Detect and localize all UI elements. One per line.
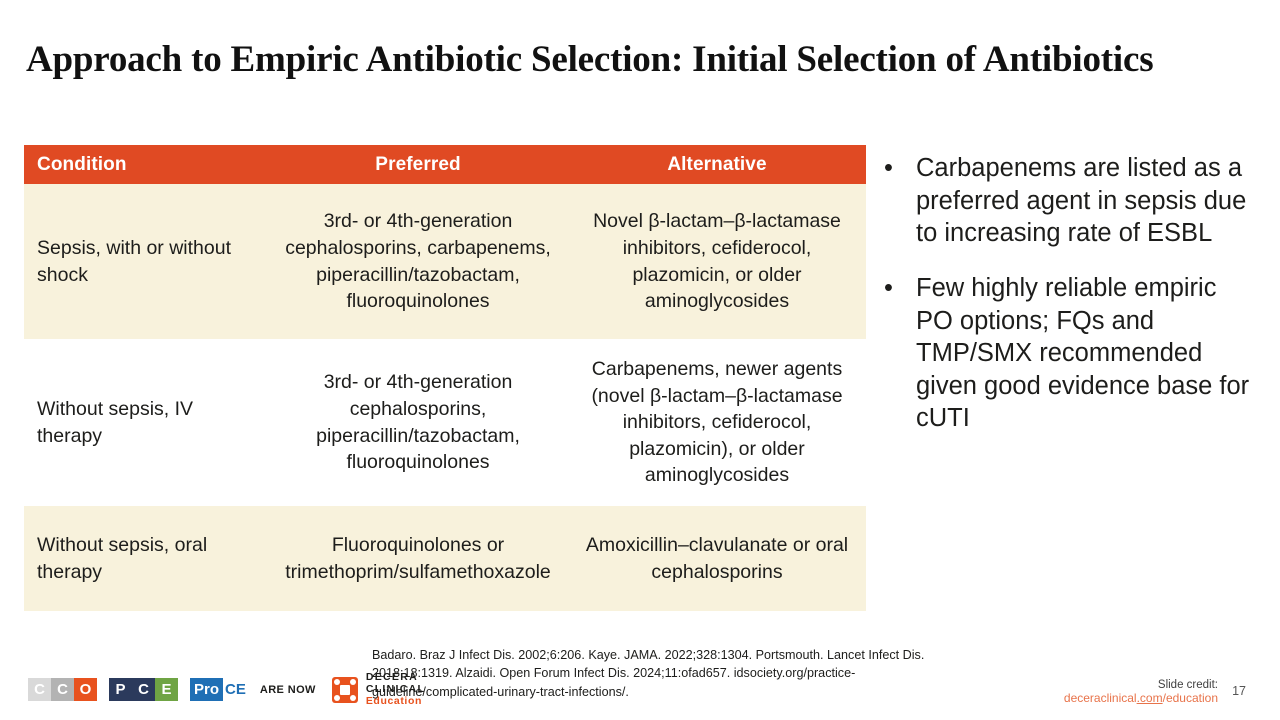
cell-condition: Without sepsis, oral therapy xyxy=(24,506,268,611)
decera-line-2: CLINICAL xyxy=(366,684,425,696)
cell-alternative: Novel β-lactam–β-lactamase inhibitors, c… xyxy=(568,184,866,339)
pce-letter-c: C xyxy=(132,678,155,701)
table-header-row: Condition Preferred Alternative xyxy=(24,145,866,184)
list-item-text: Carbapenems are listed as a preferred ag… xyxy=(916,154,1246,247)
slide-credit-label: Slide credit: xyxy=(1064,679,1218,691)
cell-preferred: 3rd- or 4th-generation cephalosporins, c… xyxy=(268,184,568,339)
cell-alternative: Carbapenems, newer agents (novel β-lacta… xyxy=(568,339,866,506)
decera-wordmark: DECERA CLINICAL Education xyxy=(366,672,425,707)
column-header-preferred: Preferred xyxy=(268,145,568,184)
credit-link-domain: .com xyxy=(1137,691,1163,705)
proce-suffix: CE xyxy=(225,681,246,698)
pce-letter-p: P xyxy=(109,678,132,701)
table-row: Sepsis, with or without shock 3rd- or 4t… xyxy=(24,184,866,339)
cell-preferred: 3rd- or 4th-generation cephalosporins, p… xyxy=(268,339,568,506)
decera-line-1: DECERA xyxy=(366,672,425,684)
column-header-condition: Condition xyxy=(24,145,268,184)
are-now-label: ARE NOW xyxy=(260,684,316,696)
credit-link-suffix: /education xyxy=(1163,691,1218,705)
proce-prefix: Pro xyxy=(190,678,223,701)
cco-letter-o: O xyxy=(74,678,97,701)
table-row: Without sepsis, oral therapy Fluoroquino… xyxy=(24,506,866,611)
antibiotic-selection-table: Condition Preferred Alternative Sepsis, … xyxy=(24,145,866,611)
proce-logo: Pro CE xyxy=(190,678,246,701)
pce-logo: P C E xyxy=(109,678,178,701)
slide-credit: Slide credit: deceraclinical.com/educati… xyxy=(1064,679,1218,705)
cco-letter-c2: C xyxy=(51,678,74,701)
credit-link-prefix: deceraclinical xyxy=(1064,691,1137,705)
column-header-alternative: Alternative xyxy=(568,145,866,184)
page-title: Approach to Empiric Antibiotic Selection… xyxy=(26,33,1241,87)
bullet-icon: • xyxy=(884,272,893,305)
list-item-text: Few highly reliable empiric PO options; … xyxy=(916,274,1249,433)
cell-preferred: Fluoroquinolones or trimethoprim/sulfame… xyxy=(268,506,568,611)
citation-text: Badaro. Braz J Infect Dis. 2002;6:206. K… xyxy=(372,646,972,701)
slide-credit-link[interactable]: deceraclinical.com/education xyxy=(1064,691,1218,705)
cco-logo: C C O xyxy=(28,678,97,701)
cco-letter-c1: C xyxy=(28,678,51,701)
key-points-list: • Carbapenems are listed as a preferred … xyxy=(880,152,1258,457)
cell-alternative: Amoxicillin–clavulanate or oral cephalos… xyxy=(568,506,866,611)
decera-mark-icon xyxy=(332,677,358,703)
list-item: • Few highly reliable empiric PO options… xyxy=(880,272,1258,435)
page-number: 17 xyxy=(1232,684,1246,698)
bullet-icon: • xyxy=(884,152,893,185)
cell-condition: Sepsis, with or without shock xyxy=(24,184,268,339)
decera-logo: DECERA CLINICAL Education xyxy=(332,672,425,707)
pce-letter-e: E xyxy=(155,678,178,701)
footer-logos: C C O P C E Pro CE ARE NOW DECERA CLINIC… xyxy=(28,672,425,707)
table-row: Without sepsis, IV therapy 3rd- or 4th-g… xyxy=(24,339,866,506)
cell-condition: Without sepsis, IV therapy xyxy=(24,339,268,506)
decera-line-3: Education xyxy=(366,696,425,708)
list-item: • Carbapenems are listed as a preferred … xyxy=(880,152,1258,250)
slide: Approach to Empiric Antibiotic Selection… xyxy=(0,0,1280,720)
